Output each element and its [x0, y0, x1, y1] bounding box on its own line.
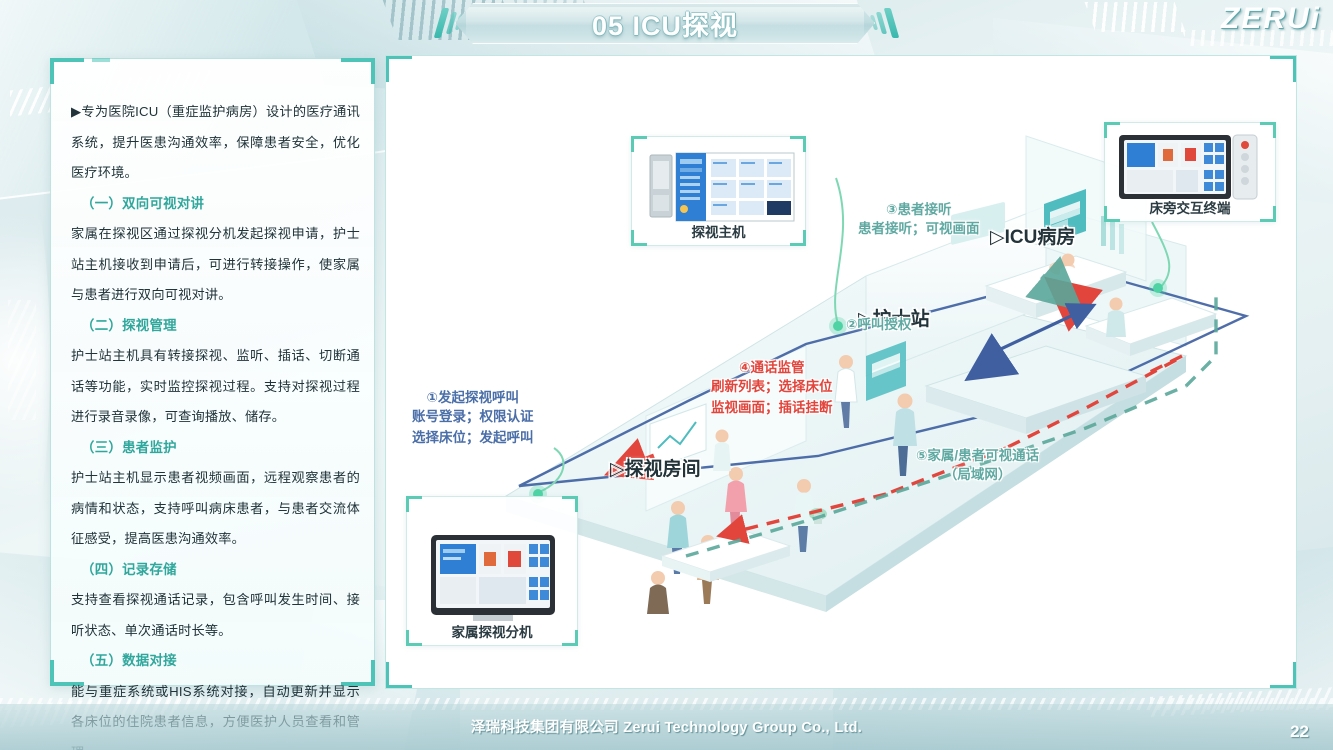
annotation-step-5: ⑤家属/患者可视通话 （局域网）: [916, 444, 1039, 485]
person-family-4: [647, 571, 669, 614]
section-heading-1: （一）双向可视对讲: [71, 189, 360, 220]
device-corner-tl-icon: [1104, 122, 1120, 138]
description-body: ▶专为医院ICU（重症监护病房）设计的医疗通讯系统，提升医患沟通效率，保障患者安…: [71, 97, 360, 750]
section-body-1: 家属在探视区通过探视分机发起探视申请，护士站主机接收到申请后，可进行转接操作，使…: [71, 219, 360, 311]
device-corner-tl-icon: [631, 136, 647, 152]
footer-bar: 泽瑞科技集团有限公司 Zerui Technology Group Co., L…: [0, 704, 1333, 750]
header-banner: 05 ICU探视: [0, 0, 1333, 50]
annotation-step-5-title: ⑤家属/患者可视通话: [916, 444, 1039, 464]
section-heading-5: （五）数据对接: [71, 646, 360, 677]
section-heading-3: （三）患者监护: [71, 433, 360, 464]
annotation-step-1-line-2: 选择床位；发起呼叫: [412, 427, 534, 448]
section-body-2: 护士站主机具有转接探视、监听、插话、切断通话等功能，实时监控探视过程。支持对探视…: [71, 341, 360, 433]
annotation-step-3-title: ③患者接听: [858, 198, 980, 218]
device-corner-tr-icon: [790, 136, 806, 152]
device-corner-tl-icon: [406, 496, 422, 512]
diagram-panel: 探视主机: [385, 55, 1297, 689]
annotation-step-4-title: ④通话监管: [711, 356, 833, 376]
device-caption-visit-host: 探视主机: [632, 221, 805, 241]
card-corner-top-right-icon: [341, 58, 375, 84]
section-heading-4: （四）记录存储: [71, 555, 360, 586]
room-label-visit-room: ▷探视房间: [610, 454, 701, 481]
page-number: 22: [1290, 722, 1309, 742]
annotation-step-3-line-1: 患者接听；可视画面: [858, 218, 980, 239]
annotation-step-1: ①发起探视呼叫 账号登录；权限认证 选择床位；发起呼叫: [412, 386, 534, 448]
annotation-step-4-line-1: 刷新列表；选择床位: [711, 376, 833, 397]
device-card-bedside-terminal: 床旁交互终端: [1104, 122, 1276, 222]
card-corner-top-left-icon: [50, 58, 84, 84]
section-heading-2: （二）探视管理: [71, 311, 360, 342]
annotation-step-4: ④通话监管 刷新列表；选择床位 监视画面；插话挂断: [711, 356, 833, 418]
description-card: ▶专为医院ICU（重症监护病房）设计的医疗通讯系统，提升医患沟通效率，保障患者安…: [50, 58, 375, 686]
annotation-step-5-line-1: （局域网）: [916, 464, 1039, 485]
brand-logo: ZERUi: [1221, 2, 1321, 36]
annotation-step-3: ③患者接听 患者接听；可视画面: [858, 198, 980, 239]
page-title: 05 ICU探视: [455, 3, 875, 44]
annotation-step-2-title: ②呼叫授权: [846, 313, 911, 333]
section-body-4: 支持查看探视通话记录，包含呼叫发生时间、接听状态、单次通话时长等。: [71, 585, 360, 646]
annotation-step-4-line-2: 监视画面；插话挂断: [711, 397, 833, 418]
room-label-icu-ward: ▷ICU病房: [990, 222, 1075, 249]
device-corner-tr-icon: [1260, 122, 1276, 138]
device-caption-bedside-terminal: 床旁交互终端: [1105, 197, 1275, 217]
footer-company-name: 泽瑞科技集团有限公司 Zerui Technology Group Co., L…: [0, 716, 1333, 737]
device-caption-family-extension: 家属探视分机: [407, 621, 577, 641]
device-card-family-extension: 家属探视分机: [406, 496, 578, 646]
annotation-step-1-line-1: 账号登录；权限认证: [412, 406, 534, 427]
annotation-step-1-title: ①发起探视呼叫: [412, 386, 534, 406]
person-visit-doctor: [713, 430, 731, 472]
device-corner-tr-icon: [562, 496, 578, 512]
device-card-visit-host: 探视主机: [631, 136, 806, 246]
section-body-3: 护士站主机显示患者视频画面，远程观察患者的病情和状态，支持呼叫病床患者，与患者交…: [71, 463, 360, 555]
intro-paragraph: ▶专为医院ICU（重症监护病房）设计的医疗通讯系统，提升医患沟通效率，保障患者安…: [71, 97, 360, 189]
annotation-step-2: ②呼叫授权: [846, 313, 911, 333]
